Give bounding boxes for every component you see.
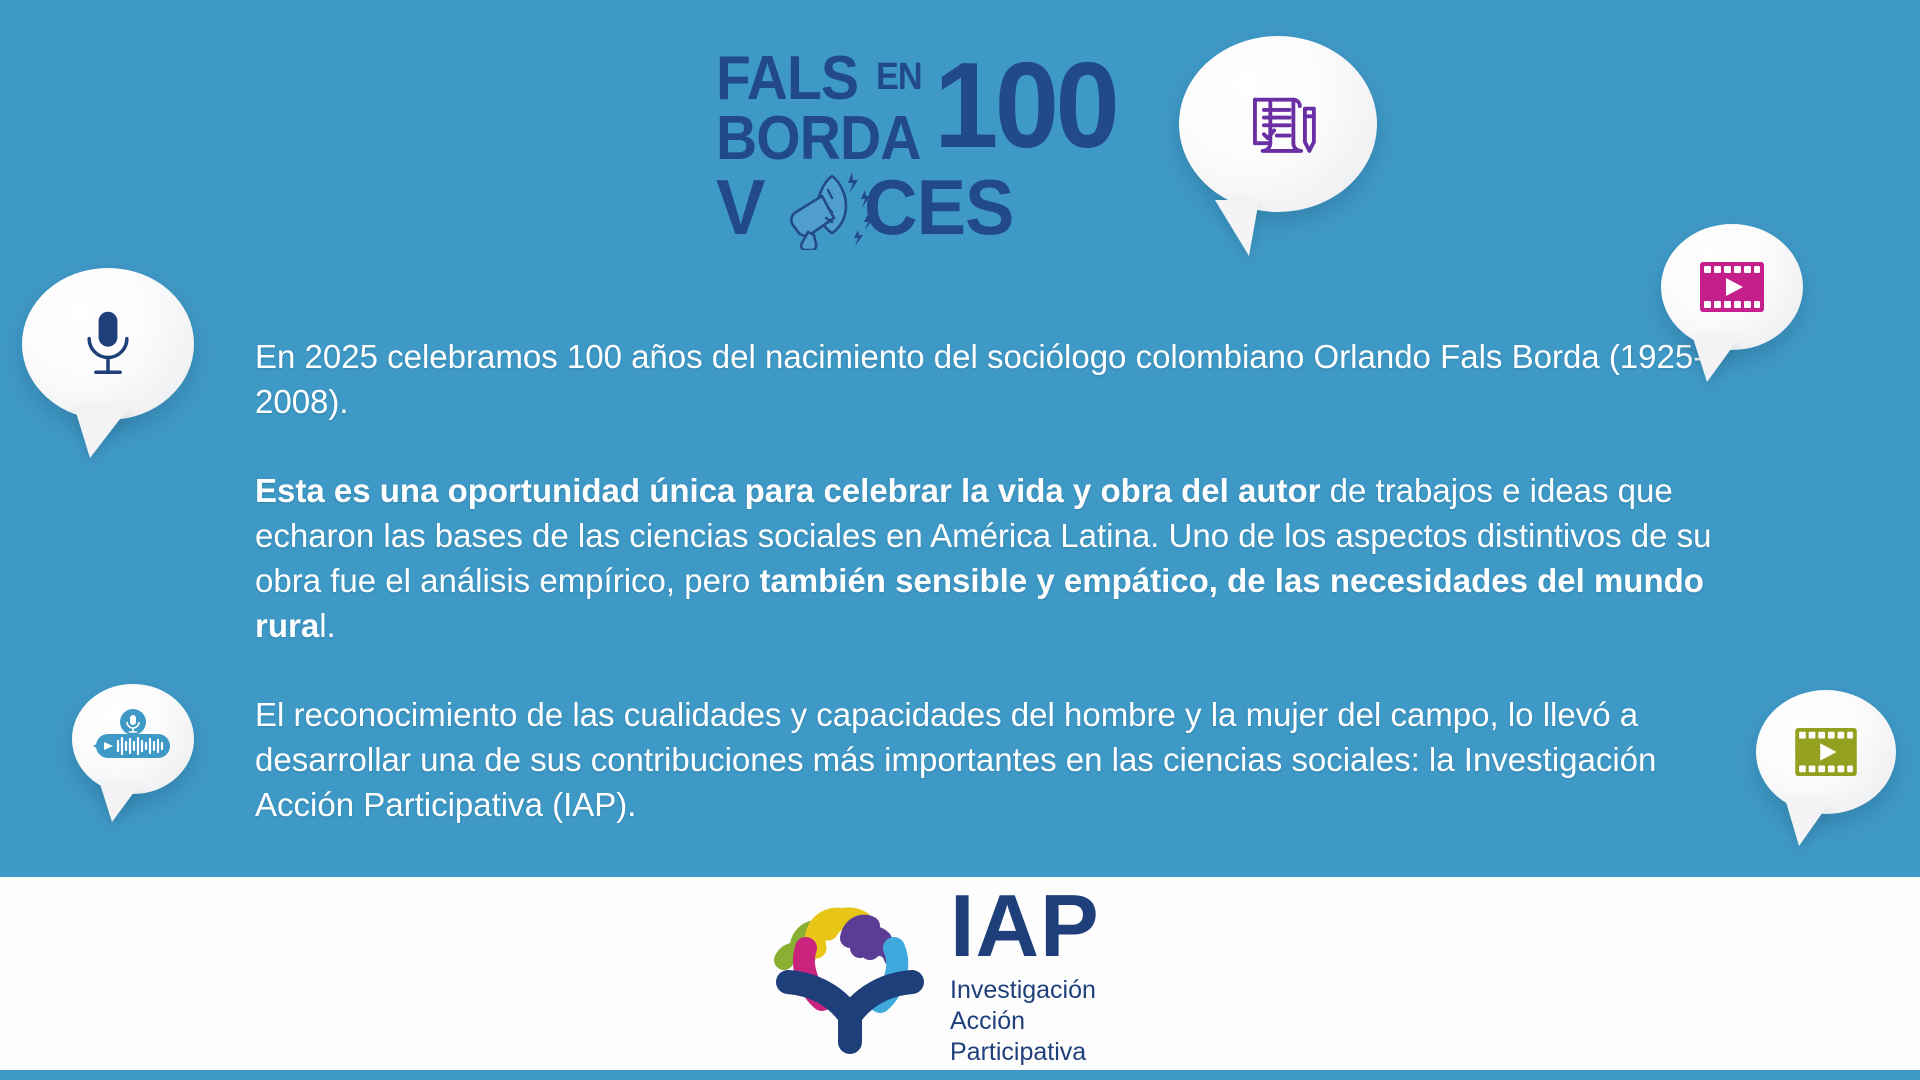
speech-bubble-video-olive	[1756, 690, 1896, 814]
speech-bubble-audio-note	[72, 684, 194, 794]
brand-logo: FALS EN BORDA 100 V CES	[716, 40, 1166, 245]
logo-number-100: 100	[934, 44, 1116, 166]
bottom-accent-strip	[0, 1070, 1920, 1080]
paragraph-3: El reconocimiento de las cualidades y ca…	[255, 692, 1715, 827]
logo-word-en: EN	[876, 58, 922, 96]
audio-message-icon	[90, 708, 176, 770]
film-play-icon	[1699, 261, 1765, 313]
microphone-icon	[81, 309, 135, 379]
speech-bubble-video-pink	[1661, 224, 1803, 350]
paragraph-2: Esta es una oportunidad única para celeb…	[255, 468, 1715, 648]
bubble-tail	[100, 784, 140, 822]
megaphone-icon	[778, 168, 888, 250]
bubble-tail	[1215, 200, 1259, 256]
speech-bubble-microphone	[22, 268, 194, 420]
iap-tagline-line2: Participativa	[950, 1037, 1166, 1068]
iap-tagline-line1: Investigación Acción	[950, 975, 1166, 1038]
iap-acronym: IAP	[950, 886, 1166, 967]
film-play-icon	[1794, 727, 1858, 777]
text-run: En 2025 celebramos 100 años del nacimien…	[255, 338, 1704, 420]
document-pencil-icon	[1237, 83, 1319, 165]
bubble-tail	[1786, 802, 1830, 846]
tree-people-icon	[766, 892, 936, 1062]
paragraph-1: En 2025 celebramos 100 años del nacimien…	[255, 334, 1715, 424]
text-run: El reconocimiento de las cualidades y ca…	[255, 696, 1656, 823]
text-run: l.	[319, 607, 336, 644]
logo-word-v: V	[716, 168, 764, 246]
iap-logo-text: IAP Investigación Acción Participativa	[950, 886, 1166, 1069]
bubble-tail	[1693, 338, 1739, 382]
poster-canvas: FALS EN BORDA 100 V CES En 2025 celebram…	[0, 0, 1920, 1080]
logo-word-fals: FALS	[716, 48, 858, 110]
bubble-tail	[74, 406, 130, 458]
iap-logo: IAP Investigación Acción Participativa	[766, 892, 1166, 1062]
body-copy: En 2025 celebramos 100 años del nacimien…	[255, 334, 1715, 827]
iap-tagline: Investigación Acción Participativa	[950, 975, 1166, 1069]
logo-word-borda: BORDA	[716, 108, 921, 170]
speech-bubble-document	[1179, 36, 1377, 212]
emphasis-run: Esta es una oportunidad única para celeb…	[255, 472, 1320, 509]
